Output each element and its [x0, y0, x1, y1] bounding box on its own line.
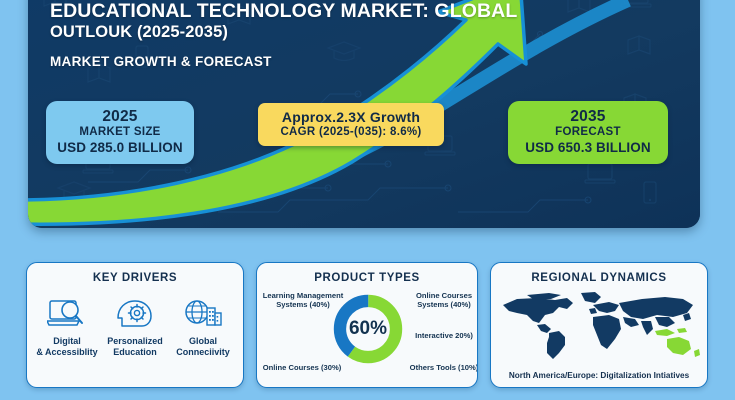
world-map-svg [497, 291, 703, 361]
stat-2035-label: FORECAST [518, 126, 658, 140]
growth-cagr-detail: CAGR (2025-(035): 8.6%) [266, 126, 436, 140]
brain-gear-icon [102, 296, 168, 332]
product-types-title: PRODUCT TYPES [257, 272, 477, 284]
key-drivers-list: Digital & Accessiblity [27, 296, 243, 358]
product-types-card: PRODUCT TYPES 60% Learning Management Sy… [256, 262, 478, 388]
laptop-search-icon [34, 296, 100, 332]
driver-label-personalized: Personalized Education [102, 336, 168, 358]
hero-subtitle: MARKET GROWTH & FORECAST [50, 54, 272, 69]
pie-label-online-courses: Online Courses (30%) [261, 363, 343, 372]
growth-headline: Approx.2.3X Growth [266, 109, 436, 126]
pie-label-others-tools: Others Tools (10%) [409, 363, 478, 372]
stat-2025-label: MARKET SIZE [56, 126, 184, 140]
page-title: EDUCATIONAL TECHNOLOGY MARKET: GLOBAL OU… [50, 0, 650, 42]
driver-2-line1: Global [189, 336, 217, 346]
stat-2035-year: 2035 [518, 108, 658, 126]
driver-2-line2: Conneciivity [176, 347, 230, 357]
title-line-2: OUTLOUK (2025-2035) [50, 23, 650, 42]
stat-box-market-size: 2025 MARKET SIZE USD 285.0 BILLION [46, 101, 194, 164]
stat-box-forecast: 2035 FORECAST USD 650.3 BILLION [508, 101, 668, 164]
stat-2025-year: 2025 [56, 108, 184, 126]
driver-0-line2: & Accessiblity [36, 347, 97, 357]
key-drivers-title: KEY DRIVERS [27, 272, 243, 284]
globe-buildings-icon [170, 296, 236, 332]
regional-dynamics-caption: North America/Europe: Digitalization Int… [491, 371, 707, 380]
regional-dynamics-card: REGIONAL DYNAMICS [490, 262, 708, 388]
stat-box-growth-cagr: Approx.2.3X Growth CAGR (2025-(035): 8.6… [258, 103, 444, 146]
driver-1-line2: Education [113, 347, 157, 357]
pie-label-interactive: Interactive 20%) [409, 331, 478, 340]
driver-item-personalized-education: Personalized Education [102, 296, 168, 358]
driver-label-global: Global Conneciivity [170, 336, 236, 358]
regional-dynamics-title: REGIONAL DYNAMICS [491, 272, 707, 284]
driver-label-digital: Digital & Accessiblity [34, 336, 100, 358]
product-types-donut-chart: 60% Learning Management Systems (40%) On… [257, 289, 477, 388]
stat-2025-value: USD 285.0 BILLION [56, 140, 184, 156]
pie-label-lms: Learning Management Systems (40%) [259, 291, 347, 310]
world-map-icon [497, 291, 703, 361]
pie-label-online-courses-systems: Online Courses Systems (40%) [409, 291, 478, 310]
driver-item-global-connectivity: Global Conneciivity [170, 296, 236, 358]
title-line-1: EDUCATIONAL TECHNOLOGY MARKET: GLOBAL [50, 0, 517, 22]
driver-item-digital-accessibility: Digital & Accessiblity [34, 296, 100, 358]
stat-2035-value: USD 650.3 BILLION [518, 140, 658, 156]
driver-1-line1: Personalized [107, 336, 163, 346]
key-drivers-card: KEY DRIVERS Digital & Accessiblity [26, 262, 244, 388]
driver-0-line1: Digital [53, 336, 81, 346]
